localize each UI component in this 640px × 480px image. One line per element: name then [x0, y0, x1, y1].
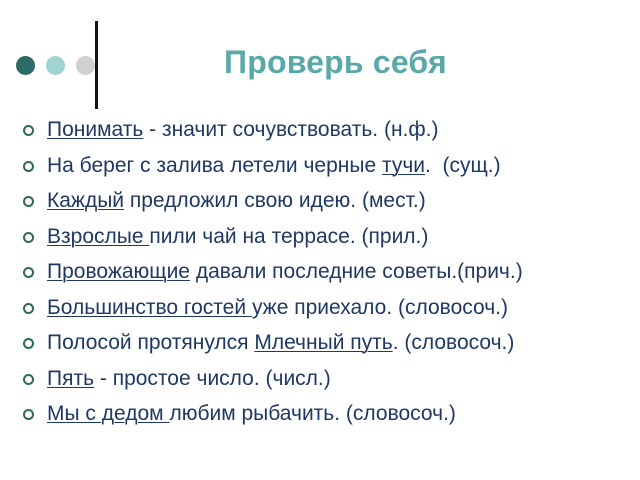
vertical-divider-rule: [95, 21, 98, 109]
bullet-circle-icon: [23, 125, 34, 136]
bullet-circle-icon: [23, 338, 34, 349]
list-item: Пять - простое число. (числ.): [0, 361, 640, 397]
underlined-answer: Млечный путь: [254, 331, 392, 354]
sentence-prefix: На берег с залива летели черные: [47, 154, 382, 177]
underlined-answer: Провожающие: [47, 260, 190, 283]
bullet-circle-icon: [23, 267, 34, 278]
underlined-answer: тучи: [382, 154, 425, 177]
underlined-answer: Понимать: [47, 118, 143, 141]
bullet-circle-icon: [23, 409, 34, 420]
decorative-dots-group: [16, 56, 95, 75]
dot-dark-teal-icon: [16, 56, 35, 75]
sentence-prefix: Полосой протянулся: [47, 331, 254, 354]
sentence-suffix: предложил свою идею. (мест.): [124, 189, 426, 212]
underlined-answer: Мы с дедом: [47, 402, 169, 425]
answer-list: Понимать - значит сочувствовать. (н.ф.)Н…: [0, 112, 640, 432]
dot-light-teal-icon: [46, 56, 65, 75]
bullet-circle-icon: [23, 374, 34, 385]
sentence-suffix: любим рыбачить. (словосоч.): [169, 402, 455, 425]
bullet-circle-icon: [23, 303, 34, 314]
sentence-suffix: . (словосоч.): [393, 331, 515, 354]
list-item: Провожающие давали последние советы.(при…: [0, 254, 640, 290]
underlined-answer: Каждый: [47, 189, 124, 212]
sentence-suffix: - значит сочувствовать. (н.ф.): [143, 118, 438, 141]
list-item: Взрослые пили чай на террасе. (прил.): [0, 219, 640, 255]
list-item: Большинство гостей уже приехало. (словос…: [0, 290, 640, 326]
sentence-suffix: - простое число. (числ.): [94, 367, 331, 390]
bullet-circle-icon: [23, 161, 34, 172]
dot-gray-icon: [76, 56, 95, 75]
list-item: Понимать - значит сочувствовать. (н.ф.): [0, 112, 640, 148]
underlined-answer: Большинство гостей: [47, 296, 252, 319]
sentence-suffix: . (сущ.): [425, 154, 501, 177]
sentence-suffix: уже приехало. (словосоч.): [252, 296, 508, 319]
list-item: На берег с залива летели черные тучи. (с…: [0, 148, 640, 184]
slide-title: Проверь себя: [224, 44, 447, 81]
underlined-answer: Взрослые: [47, 225, 149, 248]
bullet-circle-icon: [23, 196, 34, 207]
list-item: Мы с дедом любим рыбачить. (словосоч.): [0, 396, 640, 432]
bullet-circle-icon: [23, 232, 34, 243]
slide-header: Проверь себя: [0, 0, 640, 112]
underlined-answer: Пять: [47, 367, 94, 390]
list-item: Каждый предложил свою идею. (мест.): [0, 183, 640, 219]
list-item: Полосой протянулся Млечный путь. (словос…: [0, 325, 640, 361]
sentence-suffix: пили чай на террасе. (прил.): [149, 225, 428, 248]
sentence-suffix: давали последние советы.(прич.): [190, 260, 523, 283]
